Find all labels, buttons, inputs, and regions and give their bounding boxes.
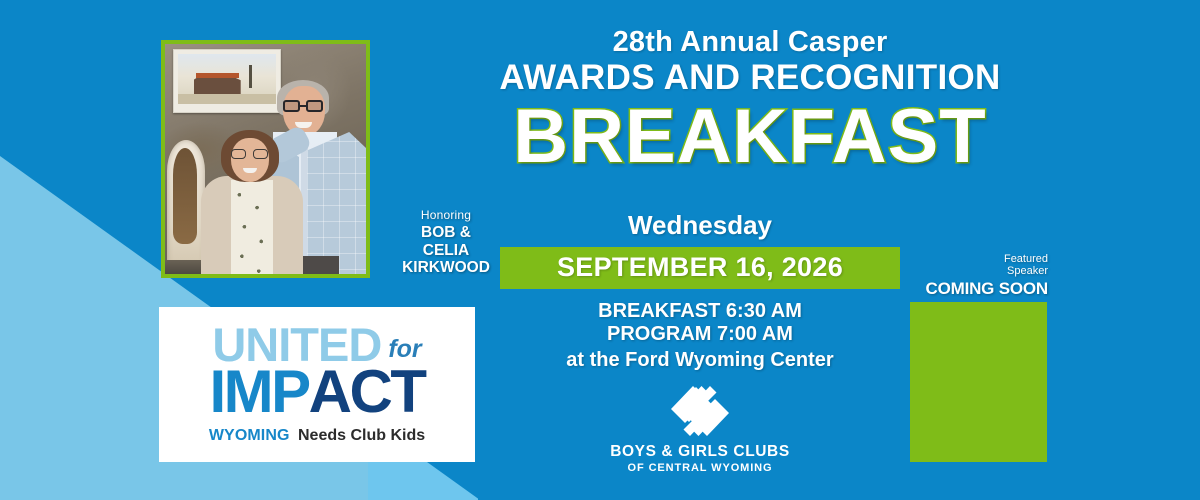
honoring-label: Honoring bbox=[392, 208, 500, 222]
honoree-name-line-2: CELIA bbox=[392, 242, 500, 260]
honoree-name: BOB & CELIA KIRKWOOD bbox=[392, 224, 500, 277]
photo-woman-glasses-right bbox=[253, 149, 268, 159]
featured-speaker-label-line-2: Speaker bbox=[860, 266, 1048, 278]
event-venue: at the Ford Wyoming Center bbox=[500, 349, 900, 372]
honoree-photo-image bbox=[165, 44, 366, 274]
featured-speaker-caption: Featured Speaker COMING SOON bbox=[860, 254, 1048, 299]
headline-line-1: 28th Annual Casper bbox=[380, 26, 1120, 59]
photo-woman-glasses-left bbox=[231, 149, 246, 159]
interlocking-hands-icon bbox=[663, 384, 737, 438]
event-promo-banner: Honoring BOB & CELIA KIRKWOOD 28th Annua… bbox=[0, 0, 1200, 500]
event-program-time: PROGRAM 7:00 AM bbox=[500, 323, 900, 346]
event-times: BREAKFAST 6:30 AM PROGRAM 7:00 AM bbox=[500, 300, 900, 347]
event-day: Wednesday bbox=[500, 210, 900, 241]
ufi-wyoming-text: WYOMING bbox=[209, 427, 290, 444]
bgc-name-line-1: BOYS & GIRLS CLUBS bbox=[600, 443, 800, 461]
ufi-row-tagline: WYOMING Needs Club Kids bbox=[209, 427, 425, 445]
photo-man-glasses-left bbox=[283, 100, 300, 112]
headline-block: 28th Annual Casper AWARDS AND RECOGNITIO… bbox=[380, 26, 1120, 178]
headline-breakfast: BREAKFAST bbox=[380, 96, 1120, 178]
photo-framed-artwork bbox=[173, 49, 281, 113]
honoree-photo bbox=[161, 40, 370, 278]
photo-wall-ornament bbox=[167, 140, 205, 278]
photo-artwork-roof bbox=[196, 73, 239, 78]
bgc-name-line-2: OF CENTRAL WYOMING bbox=[600, 462, 800, 474]
honoree-caption: Honoring BOB & CELIA KIRKWOOD bbox=[392, 208, 500, 277]
photo-wall-ornament-inner bbox=[173, 148, 197, 244]
event-date-badge: SEPTEMBER 16, 2026 bbox=[500, 247, 900, 289]
ufi-tagline-text: Needs Club Kids bbox=[298, 427, 425, 444]
honoree-name-line-3: KIRKWOOD bbox=[392, 259, 500, 277]
united-for-impact-logo: UNITED for IMP ACT WYOMING Needs Club Ki… bbox=[159, 307, 475, 462]
event-details: Wednesday SEPTEMBER 16, 2026 BREAKFAST 6… bbox=[500, 210, 900, 372]
headline-line-2: AWARDS AND RECOGNITION bbox=[380, 58, 1120, 98]
photo-woman-blouse bbox=[231, 180, 273, 278]
photo-woman-face bbox=[231, 138, 269, 182]
ufi-row-impact: IMP ACT bbox=[210, 366, 425, 418]
photo-artwork-ground bbox=[178, 94, 276, 104]
photo-artwork-pole bbox=[249, 65, 252, 88]
featured-speaker-status: COMING SOON bbox=[860, 279, 1048, 299]
featured-speaker-placeholder bbox=[910, 302, 1047, 462]
event-breakfast-time: BREAKFAST 6:30 AM bbox=[500, 300, 900, 323]
boys-girls-clubs-logo: BOYS & GIRLS CLUBS OF CENTRAL WYOMING bbox=[600, 384, 800, 474]
photo-artwork-canvas bbox=[178, 54, 276, 104]
photo-man-glasses-right bbox=[306, 100, 323, 112]
ufi-imp-text: IMP bbox=[210, 366, 309, 418]
photo-man-glasses-bridge bbox=[300, 105, 306, 107]
honoree-name-line-1: BOB & bbox=[392, 224, 500, 242]
ufi-act-text: ACT bbox=[309, 366, 425, 418]
